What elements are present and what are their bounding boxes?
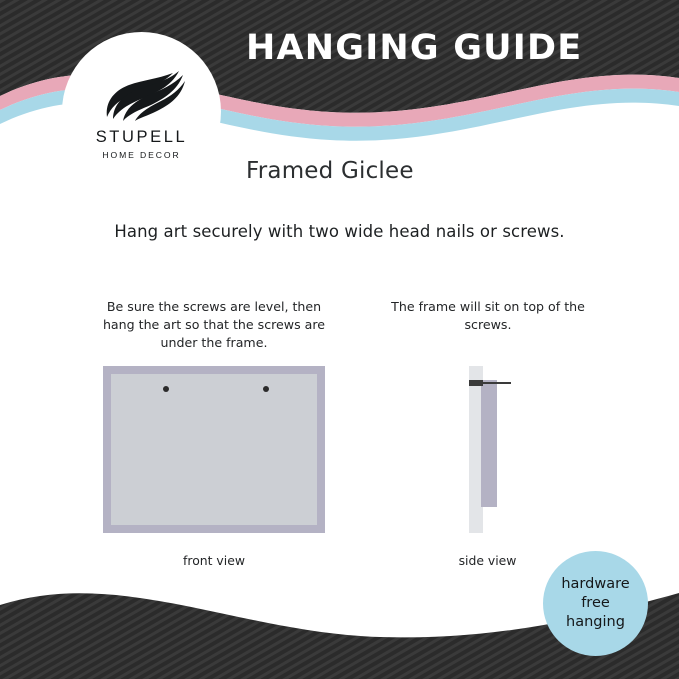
stupell-swirl-icon <box>99 63 185 125</box>
artwork-surface <box>111 374 317 525</box>
front-view-label: front view <box>103 553 325 568</box>
screw-dot-left <box>163 386 169 392</box>
hanging-guide-page: HANGING GUIDE STUPELL HOME DECOR Framed … <box>0 0 679 679</box>
front-view-caption: Be sure the screws are level, then hang … <box>96 298 332 352</box>
side-view-diagram <box>455 366 525 533</box>
badge-line-2: free <box>581 594 610 613</box>
badge-line-1: hardware <box>561 575 629 594</box>
frame-side-profile <box>481 380 497 507</box>
brand-logo: STUPELL HOME DECOR <box>62 32 221 191</box>
badge-line-3: hanging <box>566 613 625 632</box>
logo-name: STUPELL <box>96 129 188 146</box>
logo-tagline: HOME DECOR <box>102 151 180 160</box>
front-view-diagram <box>103 366 325 533</box>
side-view-label: side view <box>420 553 555 568</box>
product-type-subtitle: Framed Giclee <box>246 158 414 184</box>
side-view-caption: The frame will sit on top of the screws. <box>383 298 593 334</box>
screw-shaft <box>481 382 511 384</box>
instruction-text: Hang art securely with two wide head nai… <box>0 222 679 241</box>
status-badge: hardware free hanging <box>543 551 648 656</box>
page-title: HANGING GUIDE <box>246 28 582 68</box>
screw-dot-right <box>263 386 269 392</box>
